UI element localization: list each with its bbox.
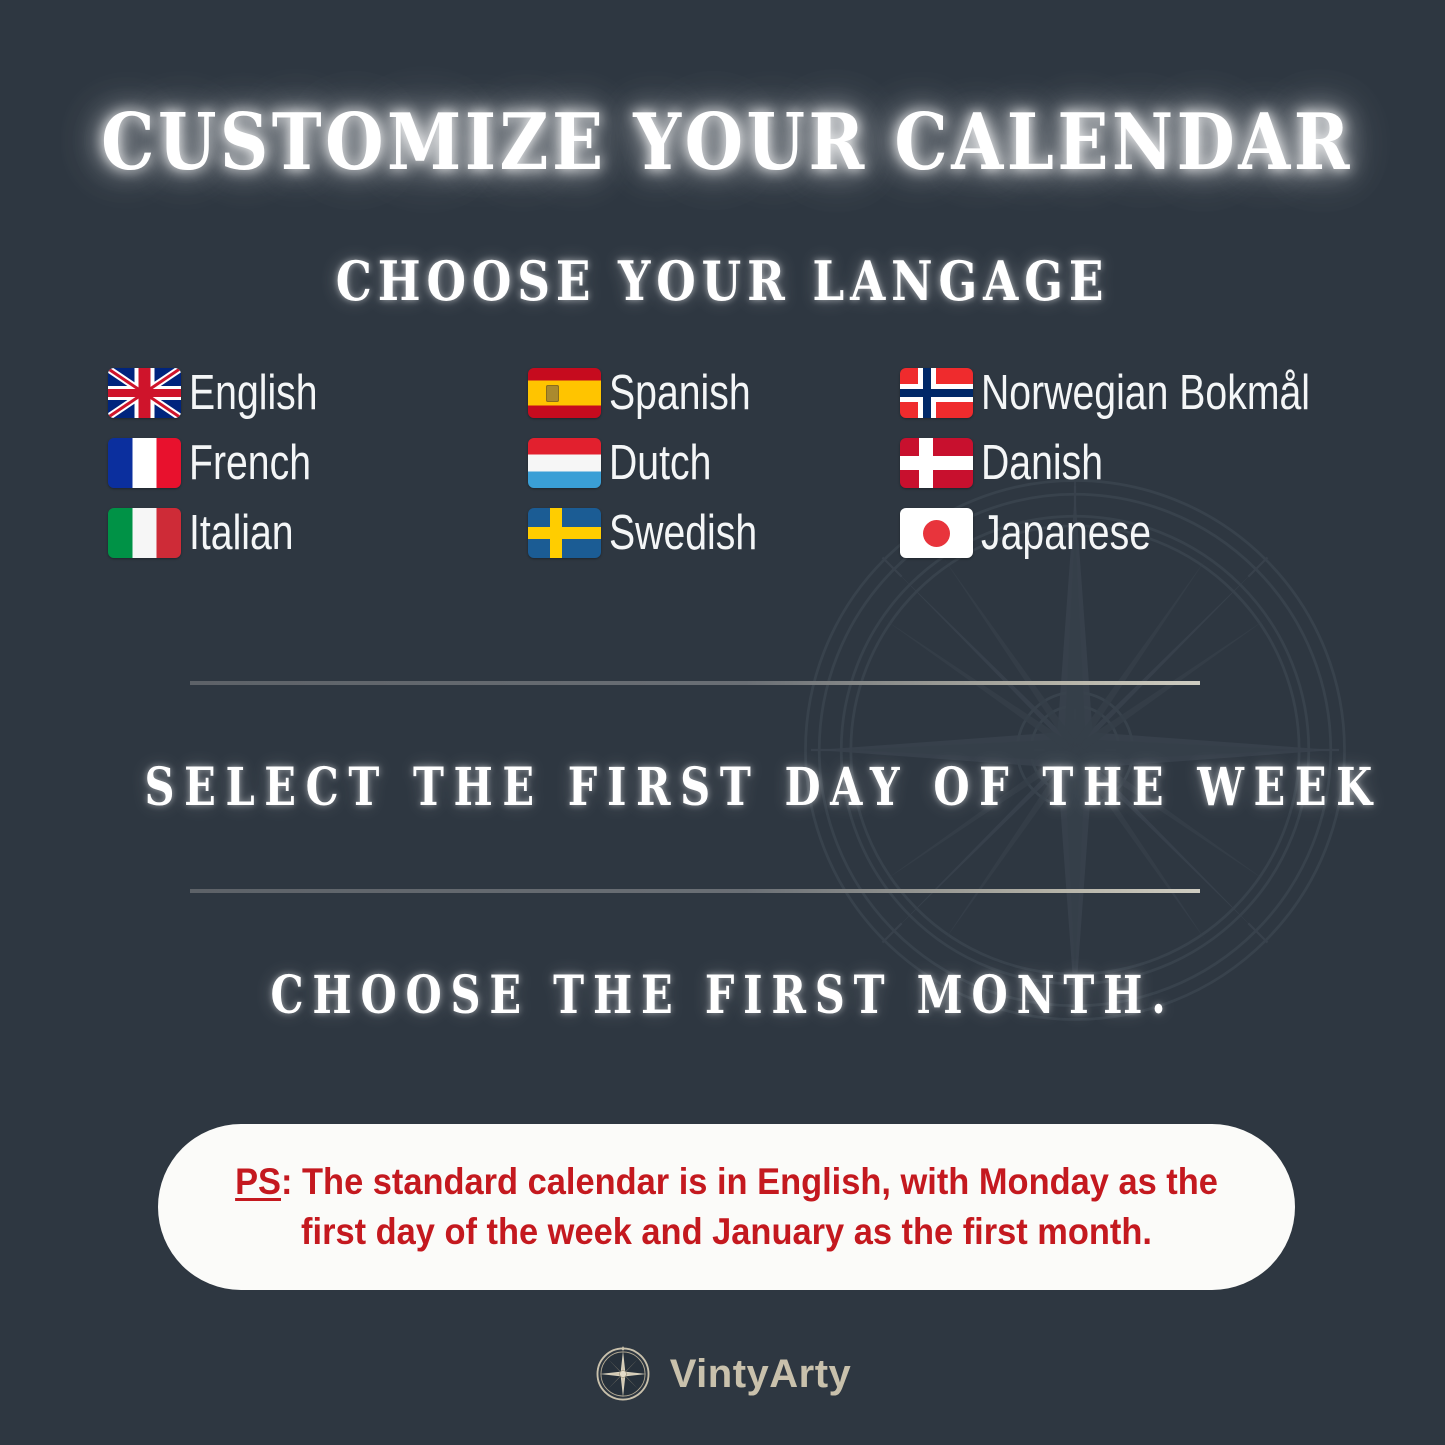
language-option-danish[interactable]: Danish (900, 428, 1370, 498)
brand-name: VintyArty (670, 1352, 852, 1397)
flag-netherlands-icon (528, 438, 601, 488)
flag-norway-icon (900, 368, 973, 418)
ps-note-text: PS: The standard calendar is in English,… (198, 1157, 1255, 1256)
language-options-grid: English Spanish Norwegian Bokmål French … (108, 358, 1378, 568)
flag-denmark-icon (900, 438, 973, 488)
compass-rose-icon (594, 1345, 652, 1403)
section-divider-top (190, 681, 1200, 685)
language-label: English (189, 369, 318, 418)
flag-united-kingdom-icon (108, 368, 181, 418)
flag-spain-icon (528, 368, 601, 418)
language-option-italian[interactable]: Italian (108, 498, 528, 568)
flag-italy-icon (108, 508, 181, 558)
section-divider-bottom (190, 889, 1200, 893)
first-month-section-heading: CHOOSE THE FIRST MONTH. (145, 965, 1301, 1026)
brand-footer: VintyArty (0, 1345, 1445, 1403)
language-option-dutch[interactable]: Dutch (528, 428, 900, 498)
language-label: Danish (981, 439, 1103, 488)
ps-body-text: The standard calendar is in English, wit… (301, 1161, 1218, 1252)
language-option-japanese[interactable]: Japanese (900, 498, 1370, 568)
language-label: Norwegian Bokmål (981, 369, 1310, 418)
flag-sweden-icon (528, 508, 601, 558)
language-option-english[interactable]: English (108, 358, 528, 428)
language-label: French (189, 439, 311, 488)
language-option-swedish[interactable]: Swedish (528, 498, 900, 568)
language-label: Spanish (609, 369, 751, 418)
language-label: Japanese (981, 509, 1151, 558)
language-label: Dutch (609, 439, 711, 488)
flag-japan-icon (900, 508, 973, 558)
ps-note-callout: PS: The standard calendar is in English,… (158, 1124, 1295, 1290)
first-day-section-heading: SELECT THE FIRST DAY OF THE WEEK (145, 757, 1301, 818)
language-option-norwegian-bokmal[interactable]: Norwegian Bokmål (900, 358, 1370, 428)
ps-label: PS (235, 1161, 281, 1202)
language-label: Swedish (609, 509, 757, 558)
calendar-customization-poster: CUSTOMIZE YOUR CALENDAR CHOOSE YOUR LANG… (0, 0, 1445, 1445)
language-section-heading: CHOOSE YOUR LANGAGE (116, 249, 1330, 313)
flag-france-icon (108, 438, 181, 488)
page-title: CUSTOMIZE YOUR CALENDAR (101, 97, 1344, 188)
ps-separator: : (281, 1161, 302, 1202)
language-option-french[interactable]: French (108, 428, 528, 498)
language-label: Italian (189, 509, 294, 558)
language-option-spanish[interactable]: Spanish (528, 358, 900, 428)
